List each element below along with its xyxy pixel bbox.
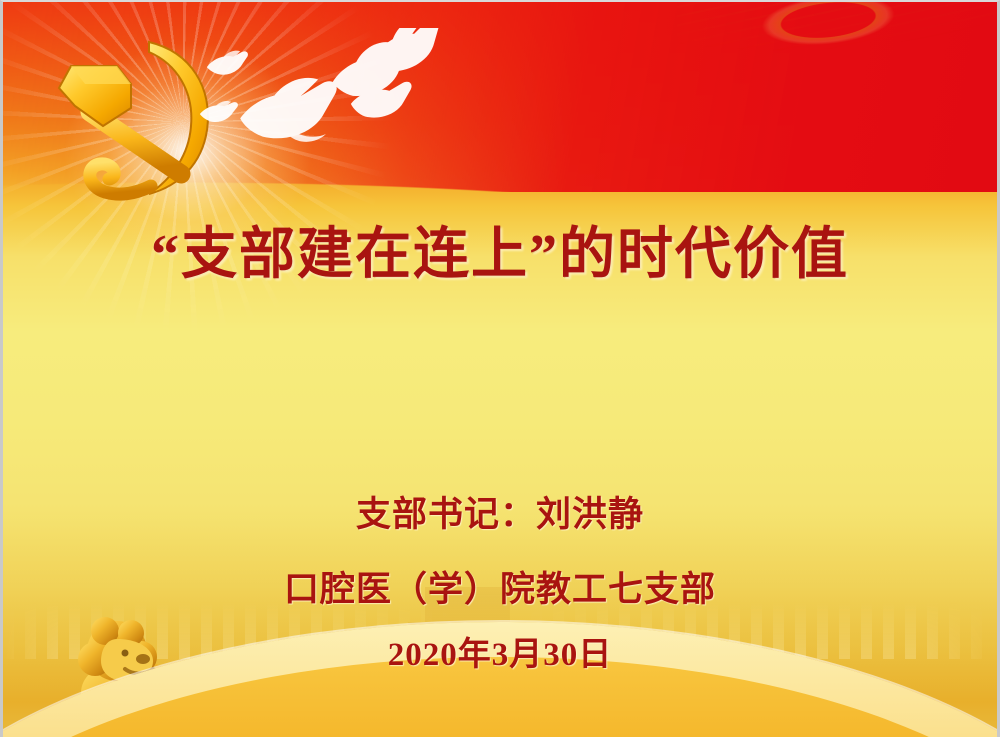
slide-subtitle-block: 支部书记：刘洪静 口腔医（学）院教工七支部 2020年3月30日 — [3, 497, 997, 672]
subtitle-date: 2020年3月30日 — [3, 639, 997, 672]
doves-icon — [199, 28, 459, 178]
subtitle-organization: 口腔医（学）院教工七支部 — [3, 572, 997, 607]
presentation-slide: “支部建在连上”的时代价值 支部书记：刘洪静 口腔医（学）院教工七支部 2020… — [0, 0, 1000, 737]
slide-title: “支部建在连上”的时代价值 — [3, 209, 997, 290]
subtitle-presenter: 支部书记：刘洪静 — [3, 497, 997, 532]
